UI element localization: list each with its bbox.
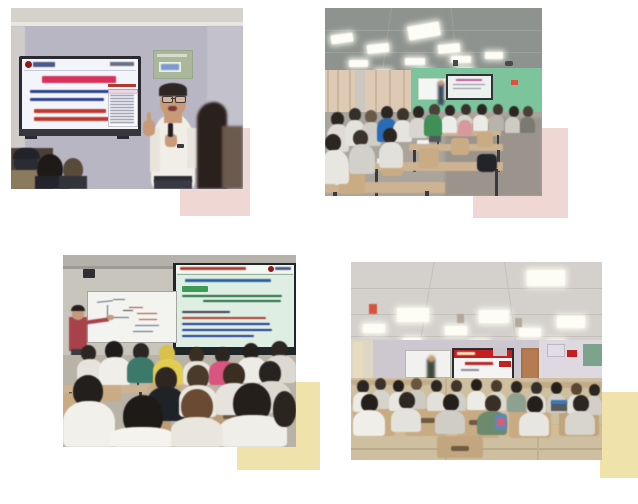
collage-canvas xyxy=(0,0,638,504)
photo-classroom-green-wall xyxy=(325,8,542,196)
photo-large-classroom-red-screen xyxy=(351,262,602,460)
yellow-square-bottom-right xyxy=(600,392,638,478)
photo-lecture-whiteboard xyxy=(63,255,296,447)
photo-lecturer-chemistry-slide xyxy=(11,8,243,189)
